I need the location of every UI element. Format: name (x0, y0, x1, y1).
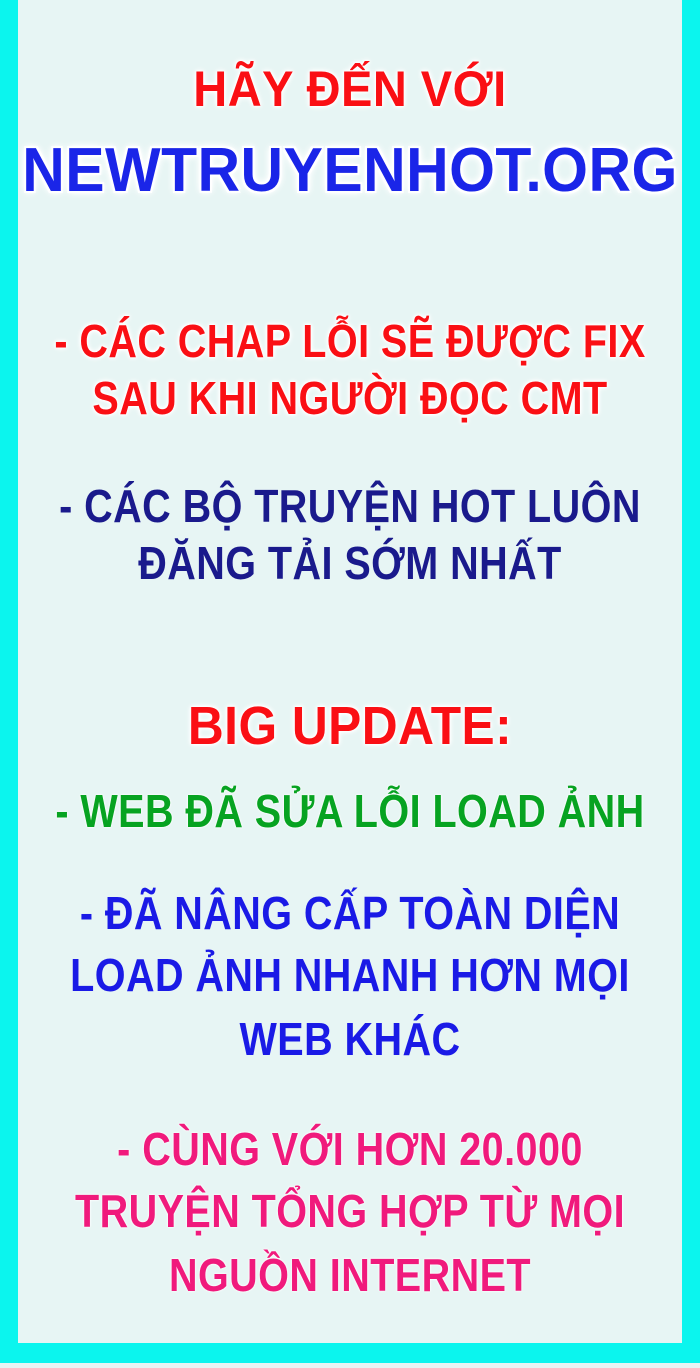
update-pink-line-2: TRUYỆN TỔNG HỢP TỪ MỌI (49, 1188, 651, 1234)
update-blue-line-2: LOAD ẢNH NHANH HƠN MỌI (49, 952, 651, 998)
promo-poster: HÃY ĐẾN VỚI NEWTRUYENHOT.ORG - CÁC CHAP … (0, 0, 700, 1368)
notice-blue-line-1: - CÁC BỘ TRUYỆN HOT LUÔN (49, 483, 651, 529)
website-url[interactable]: NEWTRUYENHOT.ORG (18, 140, 683, 202)
update-green-line-1: - WEB ĐÃ SỬA LỖI LOAD ẢNH (49, 788, 651, 834)
headline-invite: HÃY ĐẾN VỚI (21, 64, 679, 114)
notice-red-line-2: SAU KHI NGƯỜI ĐỌC CMT (49, 375, 651, 421)
bottom-edge-sliver (0, 1363, 700, 1368)
update-pink-line-1: - CÙNG VỚI HƠN 20.000 (49, 1126, 651, 1172)
notice-red-line-1: - CÁC CHAP LỖI SẼ ĐƯỢC FIX (49, 318, 651, 364)
update-blue-line-1: - ĐÃ NÂNG CẤP TOÀN DIỆN (49, 890, 651, 936)
notice-blue-line-2: ĐĂNG TẢI SỚM NHẤT (49, 540, 651, 586)
update-pink-line-3: NGUỒN INTERNET (49, 1252, 651, 1298)
big-update-heading: BIG UPDATE: (28, 699, 672, 753)
update-blue-line-3: WEB KHÁC (49, 1016, 651, 1062)
